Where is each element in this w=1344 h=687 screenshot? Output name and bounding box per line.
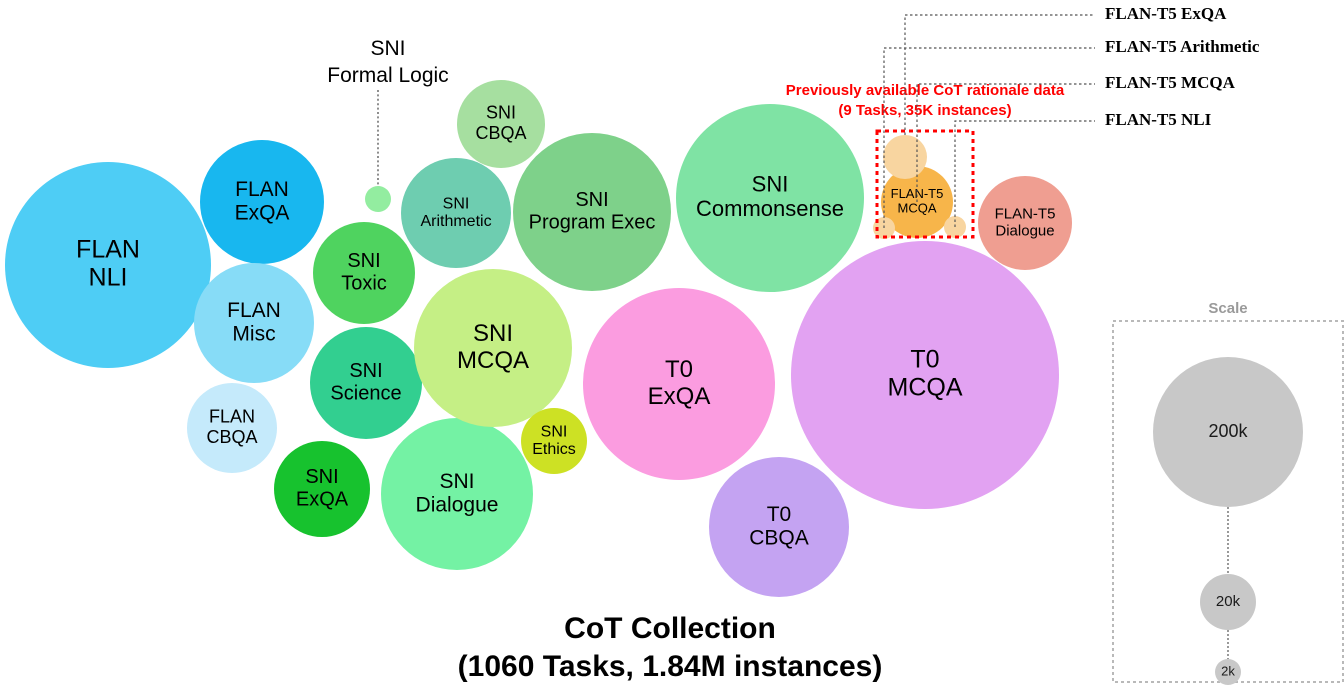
scale-legend-title: Scale [1208,300,1247,317]
scale-tick-200k: 200k [1153,357,1303,507]
bubble-circle[interactable] [200,140,324,264]
bubble-flan-exqa[interactable]: FLANExQA [200,140,324,264]
chart-subtitle: (1060 Tasks, 1.84M instances) [458,650,883,683]
external-label-line: Formal Logic [327,64,448,87]
bubble-circle[interactable] [513,133,671,291]
bubble-circle[interactable] [883,135,927,179]
bubble-circle[interactable] [401,158,511,268]
bubble-sni-ethics[interactable]: SNIEthics [521,408,587,474]
chart-canvas: FLANNLIFLANExQAFLANMiscFLANCBQASNIToxicS… [0,0,1344,687]
bubble-sni-mcqa[interactable]: SNIMCQA [414,269,572,427]
bubble-flan-misc[interactable]: FLANMisc [194,263,314,383]
external-label-line: SNI [370,37,405,60]
callout-label-flan-t5-exqa: FLAN-T5 ExQA [1105,4,1227,23]
scale-tick-2k: 2k [1215,659,1241,685]
bubble-circle[interactable] [583,288,775,480]
scale-tick-20k: 20k [1200,574,1256,630]
bubble-flan-t5-dialogue[interactable]: FLAN-T5Dialogue [978,176,1072,270]
bubble-circle[interactable] [978,176,1072,270]
bubble-sni-cbqa[interactable]: SNICBQA [457,80,545,168]
bubble-circle[interactable] [791,241,1059,509]
bubble-circle[interactable] [521,408,587,474]
callout-labels-layer: FLAN-T5 ExQAFLAN-T5 ArithmeticFLAN-T5 MC… [1105,4,1260,129]
external-labels-layer: SNIFormal Logic [327,37,448,87]
bubble-sni-formal-logic[interactable] [365,186,391,212]
bubble-sni-toxic[interactable]: SNIToxic [313,222,415,324]
bubble-flan-t5-exqa[interactable] [883,135,927,179]
chart-title: CoT Collection [564,612,776,645]
bubble-sni-dialogue[interactable]: SNIDialogue [381,418,533,570]
bubble-sni-science[interactable]: SNIScience [310,327,422,439]
bubble-chart-figure: FLANNLIFLANExQAFLANMiscFLANCBQASNIToxicS… [0,0,1344,687]
bubble-circle[interactable] [313,222,415,324]
callout-label-flan-t5-arithmetic: FLAN-T5 Arithmetic [1105,37,1260,56]
chart-title-group: CoT Collection (1060 Tasks, 1.84M instan… [458,612,883,683]
bubble-circle[interactable] [414,269,572,427]
bubble-circle[interactable] [365,186,391,212]
bubbles-layer: FLANNLIFLANExQAFLANMiscFLANCBQASNIToxicS… [5,80,1072,597]
scale-circle-label: 20k [1216,593,1241,610]
external-label-sni-formal-logic: SNIFormal Logic [327,37,448,87]
bubble-circle[interactable] [709,457,849,597]
bubble-flan-cbqa[interactable]: FLANCBQA [187,383,277,473]
scale-legend: Scale 200k20k2k [1113,300,1343,685]
bubble-sni-arithmetic[interactable]: SNIArithmetic [401,158,511,268]
scale-circle-label: 2k [1221,663,1235,678]
bubble-sni-commonsense[interactable]: SNICommonsense [676,104,864,292]
bubble-sni-program-exec[interactable]: SNIProgram Exec [513,133,671,291]
bubble-circle[interactable] [274,441,370,537]
bubble-circle[interactable] [457,80,545,168]
callout-label-flan-t5-mcqa: FLAN-T5 MCQA [1105,73,1236,92]
bubble-circle[interactable] [194,263,314,383]
bubble-circle[interactable] [187,383,277,473]
bubble-sni-exqa[interactable]: SNIExQA [274,441,370,537]
bubble-circle[interactable] [310,327,422,439]
bubble-flan-nli[interactable]: FLANNLI [5,162,211,368]
bubble-circle[interactable] [676,104,864,292]
bubble-t0-cbqa[interactable]: T0CBQA [709,457,849,597]
callout-label-flan-t5-nli: FLAN-T5 NLI [1105,110,1212,129]
bubble-t0-mcqa[interactable]: T0MCQA [791,241,1059,509]
scale-circle-label: 200k [1208,421,1248,441]
bubble-t0-exqa[interactable]: T0ExQA [583,288,775,480]
bubble-circle[interactable] [381,418,533,570]
annotation-line-2: (9 Tasks, 35K instances) [838,102,1011,119]
bubble-circle[interactable] [5,162,211,368]
